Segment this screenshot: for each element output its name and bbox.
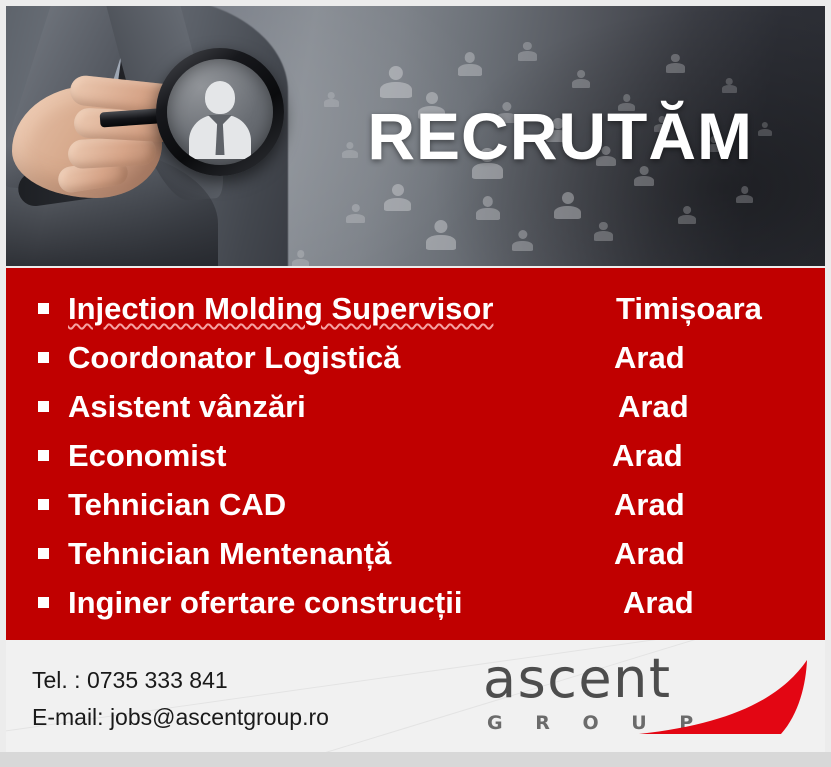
person-silhouette-icon <box>189 81 251 159</box>
job-location: Timișoara <box>616 293 762 324</box>
job-title: Economist <box>68 440 226 471</box>
job-location: Arad <box>614 538 685 569</box>
ascent-group-logo: ascent G R O U P <box>475 648 805 744</box>
job-location: Arad <box>612 440 683 471</box>
person-icon <box>384 184 411 211</box>
job-title: Coordonator Logistică <box>68 342 400 373</box>
person-icon <box>476 196 500 220</box>
job-location: Arad <box>614 342 685 373</box>
job-row: Injection Molding SupervisorTimișoara <box>6 284 825 333</box>
job-row: EconomistArad <box>6 431 825 480</box>
job-location: Arad <box>614 489 685 520</box>
page-title: RECRUTĂM <box>367 103 753 169</box>
job-row: Tehnician CADArad <box>6 480 825 529</box>
person-icon <box>346 204 365 223</box>
person-icon <box>426 220 456 250</box>
person-icon <box>678 206 696 224</box>
email-address: E-mail: jobs@ascentgroup.ro <box>32 699 329 736</box>
job-title: Tehnician Mentenanță <box>68 538 391 569</box>
job-list-panel: Injection Molding SupervisorTimișoaraCoo… <box>6 268 825 640</box>
person-icon <box>380 66 412 98</box>
magnifying-glass-icon <box>156 48 284 176</box>
person-icon <box>512 230 533 251</box>
person-icon <box>572 70 590 88</box>
square-bullet-icon <box>38 597 49 608</box>
square-bullet-icon <box>38 548 49 559</box>
bottom-strip <box>0 752 831 767</box>
person-icon <box>736 186 753 203</box>
person-icon <box>722 78 737 93</box>
job-title: Asistent vânzări <box>68 391 306 422</box>
square-bullet-icon <box>38 401 49 412</box>
job-title: Inginer ofertare construcții <box>68 587 462 618</box>
square-bullet-icon <box>38 303 49 314</box>
person-icon <box>458 52 482 76</box>
person-icon <box>554 192 581 219</box>
person-icon <box>758 122 772 136</box>
job-row: Asistent vânzăriArad <box>6 382 825 431</box>
job-title: Tehnician CAD <box>68 489 286 520</box>
person-icon <box>666 54 685 73</box>
phone-number: Tel. : 0735 333 841 <box>32 662 329 699</box>
magnifier-lens <box>167 59 273 165</box>
red-swoosh-shape <box>631 658 809 742</box>
job-row: Inginer ofertare construcțiiArad <box>6 578 825 627</box>
person-icon <box>342 142 358 158</box>
job-location: Arad <box>623 587 694 618</box>
job-location: Arad <box>618 391 689 422</box>
person-icon <box>594 222 613 241</box>
header-banner: RECRUTĂM <box>6 6 825 266</box>
person-icon <box>518 42 537 61</box>
job-row: Tehnician MentenanțăArad <box>6 529 825 578</box>
magnifier-rim <box>156 48 284 176</box>
footer: Tel. : 0735 333 841 E-mail: jobs@ascentg… <box>6 640 825 752</box>
square-bullet-icon <box>38 352 49 363</box>
recruitment-poster: RECRUTĂM Injection Molding SupervisorTim… <box>0 0 831 767</box>
job-title: Injection Molding Supervisor <box>68 293 493 324</box>
contact-block: Tel. : 0735 333 841 E-mail: jobs@ascentg… <box>32 662 329 737</box>
job-row: Coordonator LogisticăArad <box>6 333 825 382</box>
square-bullet-icon <box>38 450 49 461</box>
square-bullet-icon <box>38 499 49 510</box>
silhouette-head <box>205 81 235 114</box>
